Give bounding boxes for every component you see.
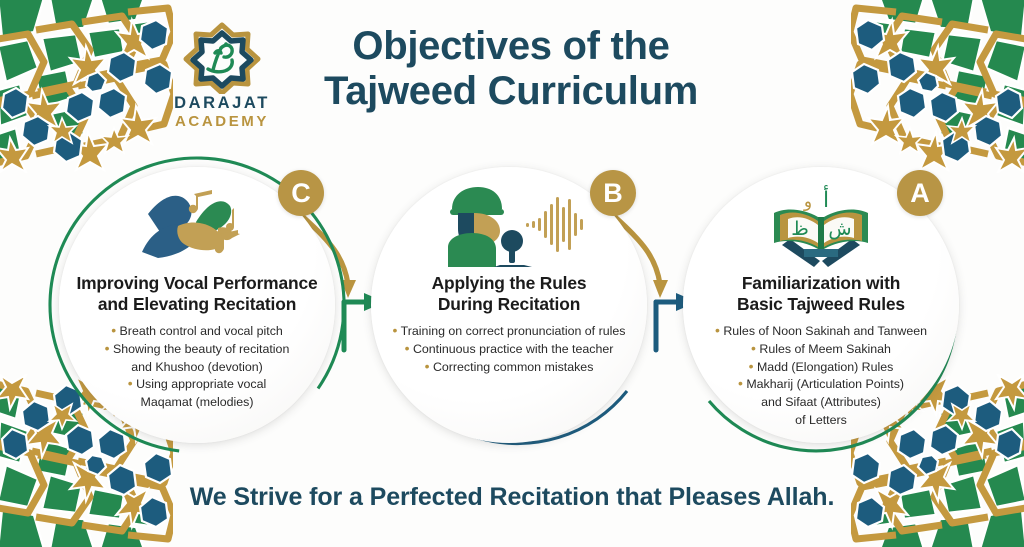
bullet-text: Continuous practice with the teacher [413, 342, 613, 356]
bullet-dot-icon: • [105, 340, 110, 356]
card-title-a-line1: Familiarization with [682, 273, 960, 294]
step-badge-a[interactable]: A [897, 170, 943, 216]
bullet-dot-icon: • [128, 375, 133, 391]
list-item: • Madd (Elongation) Rules [682, 359, 960, 377]
bullet-text: Madd (Elongation) Rules [757, 360, 893, 374]
card-bullets-b: • Training on correct pronunciation of r… [370, 323, 648, 376]
list-item: • Training on correct pronunciation of r… [370, 323, 648, 341]
page-title-line1: Objectives of the [296, 24, 726, 69]
step-badge-c[interactable]: C [278, 170, 324, 216]
bullet-dot-icon: • [393, 322, 398, 338]
card-bullets-a: • Rules of Noon Sakinah and Tanween • Ru… [682, 323, 960, 429]
reciter-microphone-soundwave-icon [434, 183, 584, 269]
darajat-academy-logo: DARAJAT ACADEMY [163, 22, 281, 140]
logo-wordmark: DARAJAT ACADEMY [163, 94, 281, 131]
bullet-text: Training on correct pronunciation of rul… [401, 324, 626, 338]
list-item: • Using appropriate vocal [58, 376, 336, 394]
bullet-text: Rules of Meem Sakinah [759, 342, 891, 356]
bullet-dot-icon: • [738, 375, 743, 391]
bullet-text: of Letters [795, 413, 847, 427]
bullet-text: Rules of Noon Sakinah and Tanween [723, 324, 927, 338]
bullet-text: Maqamat (melodies) [141, 395, 254, 409]
list-item: • Correcting common mistakes [370, 359, 648, 377]
card-title-b-line1: Applying the Rules [370, 273, 648, 294]
bullet-dot-icon: • [749, 358, 754, 374]
card-title-c-line2: and Elevating Recitation [58, 294, 336, 315]
list-item: • Continuous practice with the teacher [370, 341, 648, 359]
card-title-a: Familiarization with Basic Tajweed Rules [682, 273, 960, 315]
card-title-a-line2: Basic Tajweed Rules [682, 294, 960, 315]
infographic-canvas: DARAJAT ACADEMY Objectives of the Tajwee… [0, 0, 1024, 547]
objectives-flow: Improving Vocal Performance and Elevatin… [0, 150, 1024, 470]
card-title-c: Improving Vocal Performance and Elevatin… [58, 273, 336, 315]
bullet-text: Showing the beauty of recitation [113, 342, 289, 356]
islamic-pattern-ornament-top-right [851, 0, 1024, 173]
footer-tagline: We Strive for a Perfected Recitation tha… [0, 483, 1024, 512]
eight-point-star-rahma-calligraphy-icon [163, 22, 281, 94]
singing-bird-music-notes-icon [134, 183, 260, 269]
list-item: and Sifaat (Attributes) [682, 394, 960, 412]
islamic-pattern-ornament-top-left [0, 0, 173, 173]
page-title: Objectives of the Tajweed Curriculum [296, 24, 726, 114]
list-item: of Letters [682, 412, 960, 430]
svg-text:ش: ش [828, 218, 851, 240]
bullet-dot-icon: • [425, 358, 430, 374]
step-badge-b[interactable]: B [590, 170, 636, 216]
bullet-dot-icon: • [405, 340, 410, 356]
bullet-text: Breath control and vocal pitch [120, 324, 283, 338]
logo-name-line2: ACADEMY [163, 113, 281, 131]
list-item: and Khushoo (devotion) [58, 359, 336, 377]
list-item: • Breath control and vocal pitch [58, 323, 336, 341]
bullet-text: Correcting common mistakes [433, 360, 593, 374]
bullet-dot-icon: • [751, 340, 756, 356]
list-item: • Makharij (Articulation Points) [682, 376, 960, 394]
list-item: • Rules of Meem Sakinah [682, 341, 960, 359]
svg-text:و: و [803, 192, 812, 212]
bullet-text: and Sifaat (Attributes) [761, 395, 881, 409]
bullet-dot-icon: • [111, 322, 116, 338]
page-title-line2: Tajweed Curriculum [296, 69, 726, 114]
bullet-text: Using appropriate vocal [136, 377, 266, 391]
bullet-text: and Khushoo (devotion) [131, 360, 263, 374]
card-title-b-line2: During Recitation [370, 294, 648, 315]
svg-text:أ: أ [823, 185, 829, 213]
list-item: • Showing the beauty of recitation [58, 341, 336, 359]
list-item: • Rules of Noon Sakinah and Tanween [682, 323, 960, 341]
card-title-c-line1: Improving Vocal Performance [58, 273, 336, 294]
svg-text:ظ: ظ [791, 218, 809, 240]
card-title-b: Applying the Rules During Recitation [370, 273, 648, 315]
card-bullets-c: • Breath control and vocal pitch • Showi… [58, 323, 336, 411]
open-quran-on-stand-arabic-letters-icon: ظ ش و أ [768, 183, 874, 269]
list-item: Maqamat (melodies) [58, 394, 336, 412]
bullet-dot-icon: • [715, 322, 720, 338]
logo-name-line1: DARAJAT [163, 94, 281, 113]
bullet-text: Makharij (Articulation Points) [746, 377, 904, 391]
